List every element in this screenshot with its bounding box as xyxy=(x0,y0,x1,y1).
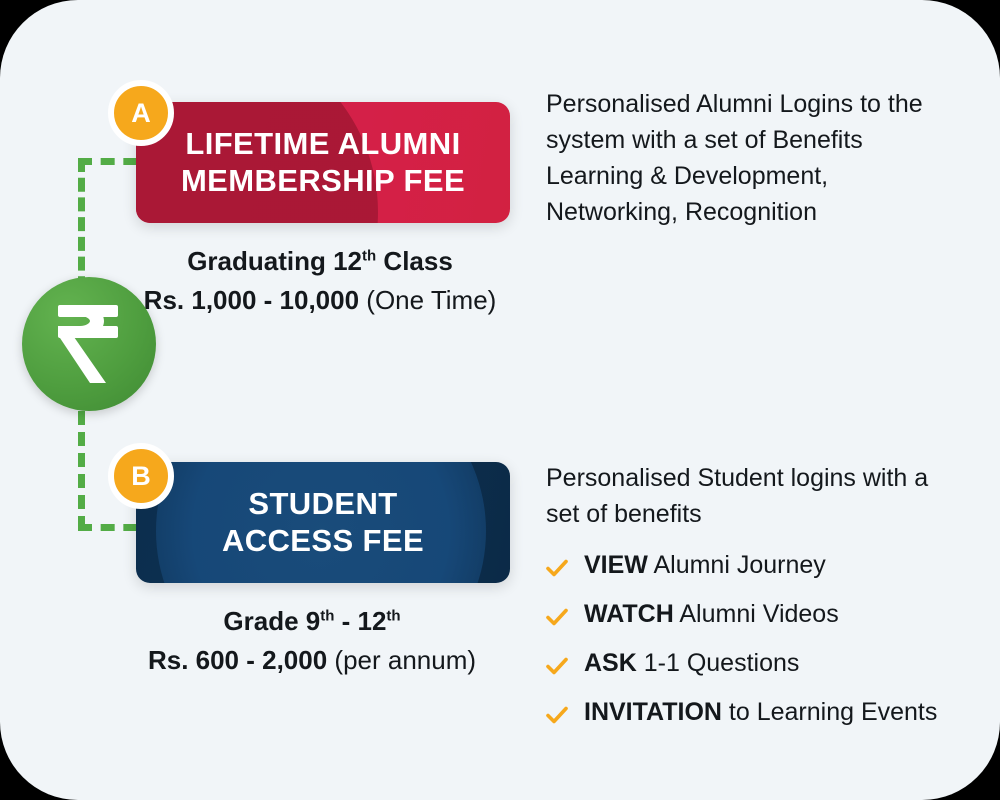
price-amount-student-note: (per annum) xyxy=(327,645,476,675)
badge-b: B xyxy=(108,443,174,509)
price-block-alumni: Graduating 12th Class Rs. 1,000 - 10,000… xyxy=(100,246,540,316)
price-eligibility-alumni: Graduating 12th Class xyxy=(100,246,540,277)
price-amount-alumni-note: (One Time) xyxy=(359,285,496,315)
description-alumni: Personalised Alumni Logins to the system… xyxy=(546,86,966,230)
infographic-canvas: % LIFETIME ALUMNI MEMBERSHIP FEE A Gradu… xyxy=(0,0,1000,800)
card-title-student-line2: ACCESS FEE xyxy=(222,523,424,558)
card-student-access-fee[interactable]: STUDENT ACCESS FEE xyxy=(136,462,510,583)
connector-line-bottom-vertical xyxy=(78,390,85,530)
price-amount-alumni: Rs. 1,000 - 10,000 (One Time) xyxy=(100,285,540,316)
badge-b-label: B xyxy=(131,461,151,492)
price-eligibility-student-sup: th xyxy=(320,607,334,624)
list-item-label: WATCH Alumni Videos xyxy=(584,597,839,631)
list-item-label: INVITATION to Learning Events xyxy=(584,695,937,729)
check-icon xyxy=(546,650,568,684)
price-eligibility-student: Grade 9th - 12th xyxy=(92,606,532,637)
card-title-alumni-line1: LIFETIME ALUMNI xyxy=(185,126,460,161)
card-title-student: STUDENT ACCESS FEE xyxy=(222,486,424,559)
rupee-icon xyxy=(22,277,156,411)
list-item: WATCH Alumni Videos xyxy=(546,597,966,635)
price-eligibility-alumni-sup: th xyxy=(362,247,376,264)
list-item: INVITATION to Learning Events xyxy=(546,695,966,733)
price-eligibility-alumni-tail: Class xyxy=(376,246,453,276)
check-icon xyxy=(546,601,568,635)
price-amount-alumni-value: Rs. 1,000 - 10,000 xyxy=(144,285,359,315)
price-eligibility-student-sup2: th xyxy=(386,607,400,624)
card-title-student-line1: STUDENT xyxy=(248,486,397,521)
price-amount-student-value: Rs. 600 - 2,000 xyxy=(148,645,327,675)
price-eligibility-student-mid: - 12 xyxy=(334,606,386,636)
list-item: ASK 1-1 Questions xyxy=(546,646,966,684)
description-student: Personalised Student logins with a set o… xyxy=(546,460,946,532)
card-title-alumni-line2: MEMBERSHIP FEE xyxy=(181,163,465,198)
check-icon xyxy=(546,552,568,586)
list-item: VIEW Alumni Journey xyxy=(546,548,966,586)
badge-a: A xyxy=(108,80,174,146)
price-eligibility-student-text: Grade 9 xyxy=(223,606,320,636)
list-item-label: VIEW Alumni Journey xyxy=(584,548,826,582)
list-item-label: ASK 1-1 Questions xyxy=(584,646,799,680)
card-lifetime-alumni-membership-fee[interactable]: LIFETIME ALUMNI MEMBERSHIP FEE xyxy=(136,102,510,223)
price-eligibility-alumni-text: Graduating 12 xyxy=(187,246,362,276)
badge-a-label: A xyxy=(131,98,151,129)
check-icon xyxy=(546,699,568,733)
price-amount-student: Rs. 600 - 2,000 (per annum) xyxy=(92,645,532,676)
benefits-list: VIEW Alumni JourneyWATCH Alumni VideosAS… xyxy=(546,548,966,744)
card-title-alumni: LIFETIME ALUMNI MEMBERSHIP FEE xyxy=(181,126,465,199)
price-block-student: Grade 9th - 12th Rs. 600 - 2,000 (per an… xyxy=(92,606,532,676)
